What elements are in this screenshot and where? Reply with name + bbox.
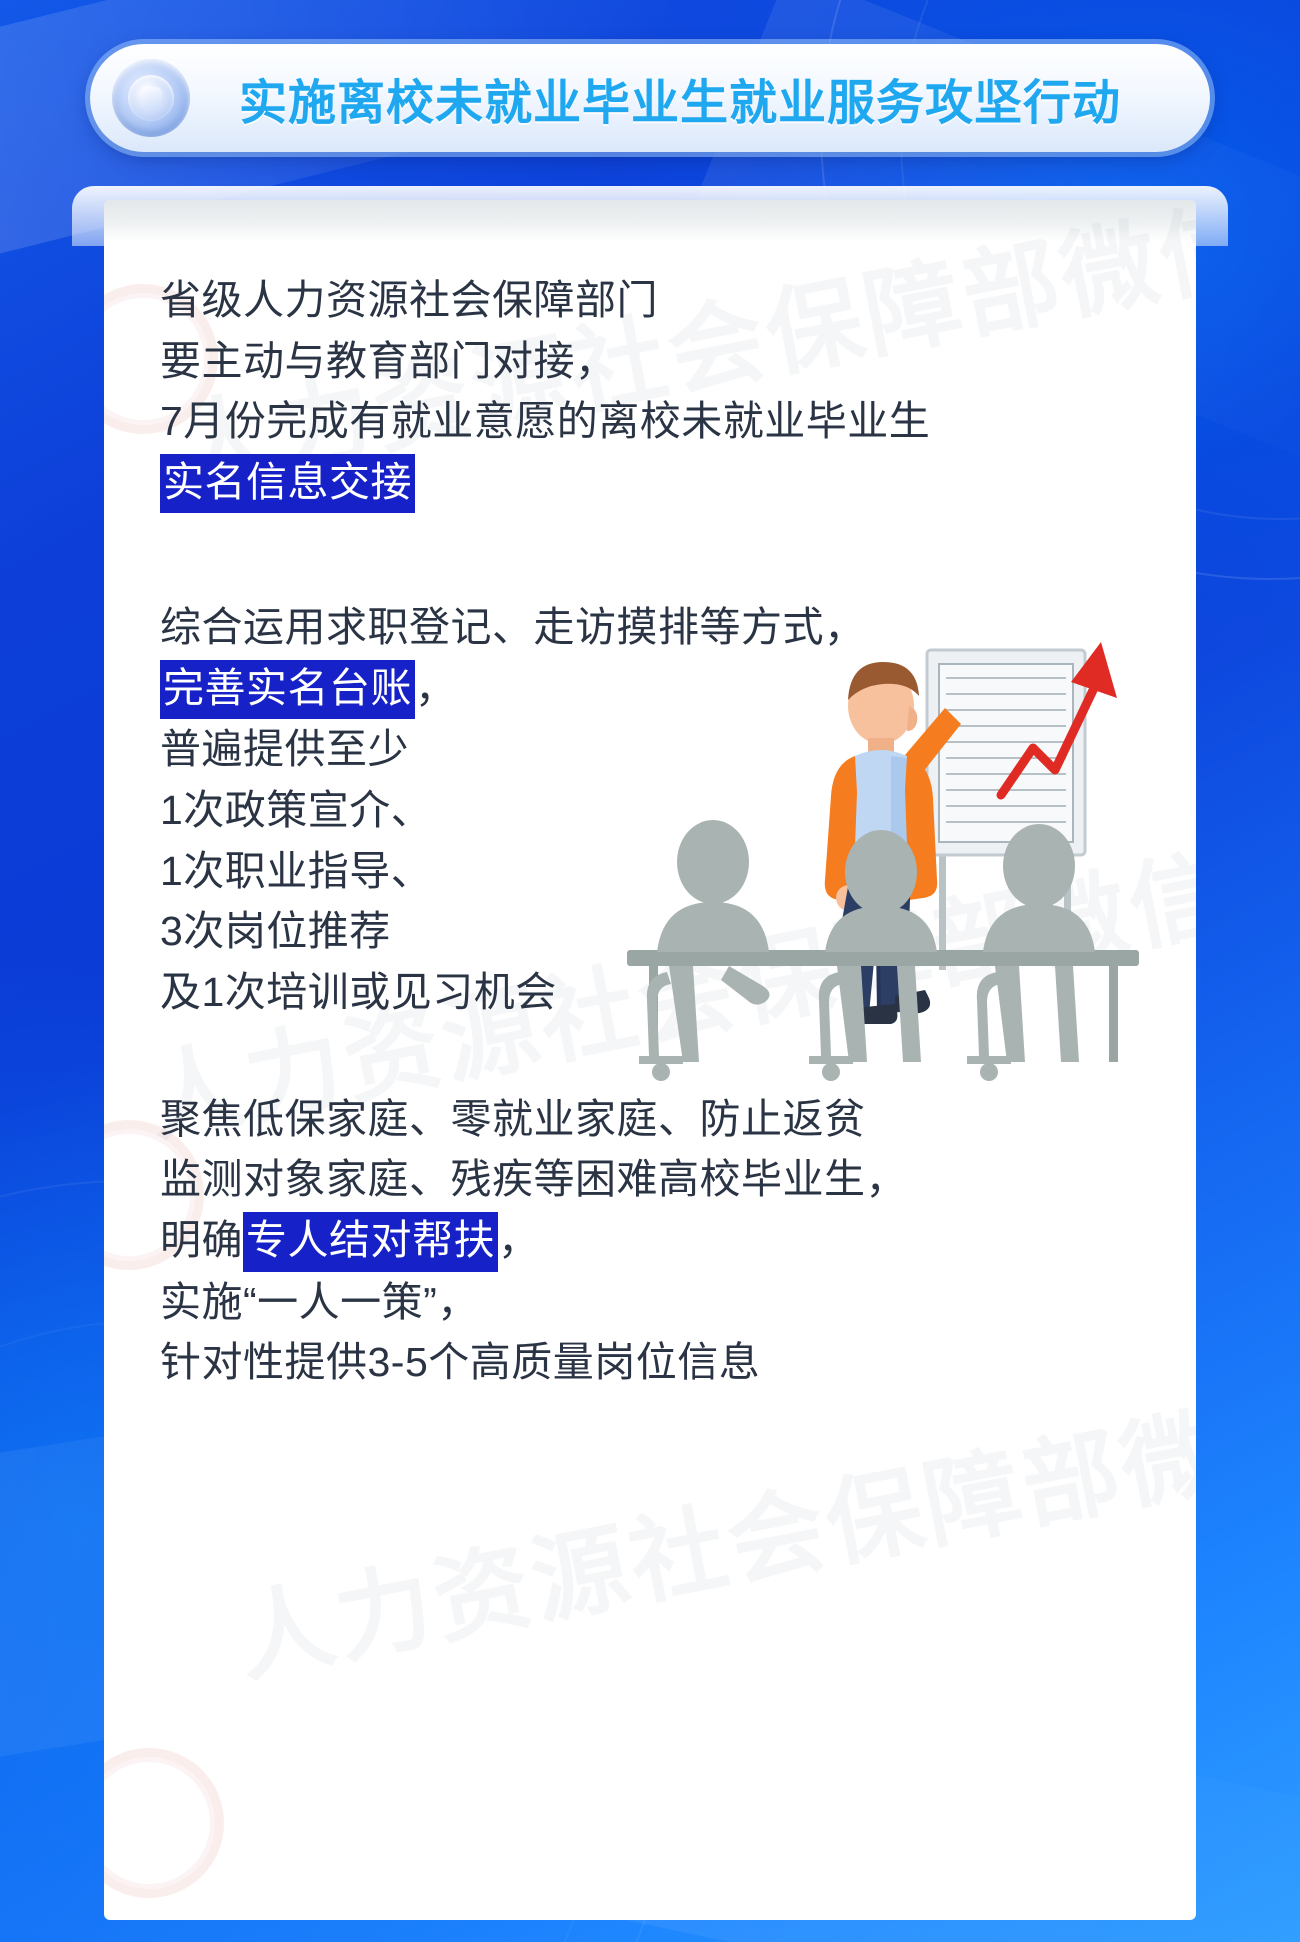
- text-run: 综合运用求职登记、走访摸排等方式，: [160, 604, 866, 650]
- text-run: ，: [498, 1217, 540, 1263]
- text-run: 监测对象家庭、残疾等困难高校毕业生，: [160, 1156, 907, 1202]
- text-line: 普遍提供至少: [160, 719, 1172, 780]
- text-line: 3次岗位推荐: [160, 901, 1172, 962]
- text-line: 完善实名台账，: [160, 658, 1172, 719]
- text-line: 实名信息交接: [160, 452, 1172, 513]
- official-seal-icon: [104, 1748, 224, 1898]
- card-top-bar: [104, 200, 1196, 242]
- paragraph-3: 聚焦低保家庭、零就业家庭、防止返贫 监测对象家庭、残疾等困难高校毕业生， 明确专…: [160, 1089, 1172, 1393]
- text-line: 要主动与教育部门对接，: [160, 331, 1172, 392]
- text-line: 1次职业指导、: [160, 841, 1172, 902]
- text-line: 7月份完成有就业意愿的离校未就业毕业生: [160, 391, 1172, 452]
- text-run: 1次职业指导、: [160, 848, 432, 894]
- text-run: 及1次培训或见习机会: [160, 969, 557, 1015]
- highlighted-text-run: 实名信息交接: [160, 454, 415, 513]
- text-line: 及1次培训或见习机会: [160, 962, 1172, 1023]
- text-line: 针对性提供3-5个高质量岗位信息: [160, 1332, 1172, 1393]
- text-run: 普遍提供至少: [160, 726, 409, 772]
- poster-root: 实施离校未就业毕业生就业服务攻坚行动 人力资源社会保障部微信公众号 人力资源社会…: [0, 0, 1300, 1942]
- text-line: 省级人力资源社会保障部门: [160, 270, 1172, 331]
- text-run: 针对性提供3-5个高质量岗位信息: [160, 1339, 760, 1385]
- text-run: 实施“一人一策”，: [160, 1279, 479, 1325]
- content-card: 人力资源社会保障部微信公众号 人力资源社会保障部微信公众号 人力资源社会保障部微…: [104, 200, 1196, 1920]
- text-run: 明确: [160, 1217, 243, 1263]
- body-content: 省级人力资源社会保障部门 要主动与教育部门对接， 7月份完成有就业意愿的离校未就…: [160, 270, 1172, 1439]
- page-title: 实施离校未就业毕业生就业服务攻坚行动: [190, 63, 1210, 133]
- paragraph-1: 省级人力资源社会保障部门 要主动与教育部门对接， 7月份完成有就业意愿的离校未就…: [160, 270, 1172, 513]
- text-run: ，: [415, 665, 457, 711]
- text-line: 综合运用求职登记、走访摸排等方式，: [160, 597, 1172, 658]
- text-run: 省级人力资源社会保障部门: [160, 277, 658, 323]
- text-line: 聚焦低保家庭、零就业家庭、防止返贫: [160, 1089, 1172, 1150]
- header-banner: 实施离校未就业毕业生就业服务攻坚行动: [90, 44, 1210, 152]
- text-run: 7月份完成有就业意愿的离校未就业毕业生: [160, 398, 930, 444]
- text-run: 要主动与教育部门对接，: [160, 338, 617, 384]
- text-line: 1次政策宣介、: [160, 780, 1172, 841]
- text-run: 3次岗位推荐: [160, 908, 391, 954]
- magnifier-emblem-icon: [112, 59, 190, 137]
- text-line: 实施“一人一策”，: [160, 1272, 1172, 1333]
- text-line: 明确专人结对帮扶，: [160, 1210, 1172, 1271]
- text-line: 监测对象家庭、残疾等困难高校毕业生，: [160, 1149, 1172, 1210]
- text-run: 聚焦低保家庭、零就业家庭、防止返贫: [160, 1096, 866, 1142]
- highlighted-text-run: 专人结对帮扶: [243, 1212, 498, 1271]
- text-run: 1次政策宣介、: [160, 787, 432, 833]
- paragraph-2: 综合运用求职登记、走访摸排等方式， 完善实名台账， 普遍提供至少 1次政策宣介、…: [160, 597, 1172, 1022]
- highlighted-text-run: 完善实名台账: [160, 660, 415, 719]
